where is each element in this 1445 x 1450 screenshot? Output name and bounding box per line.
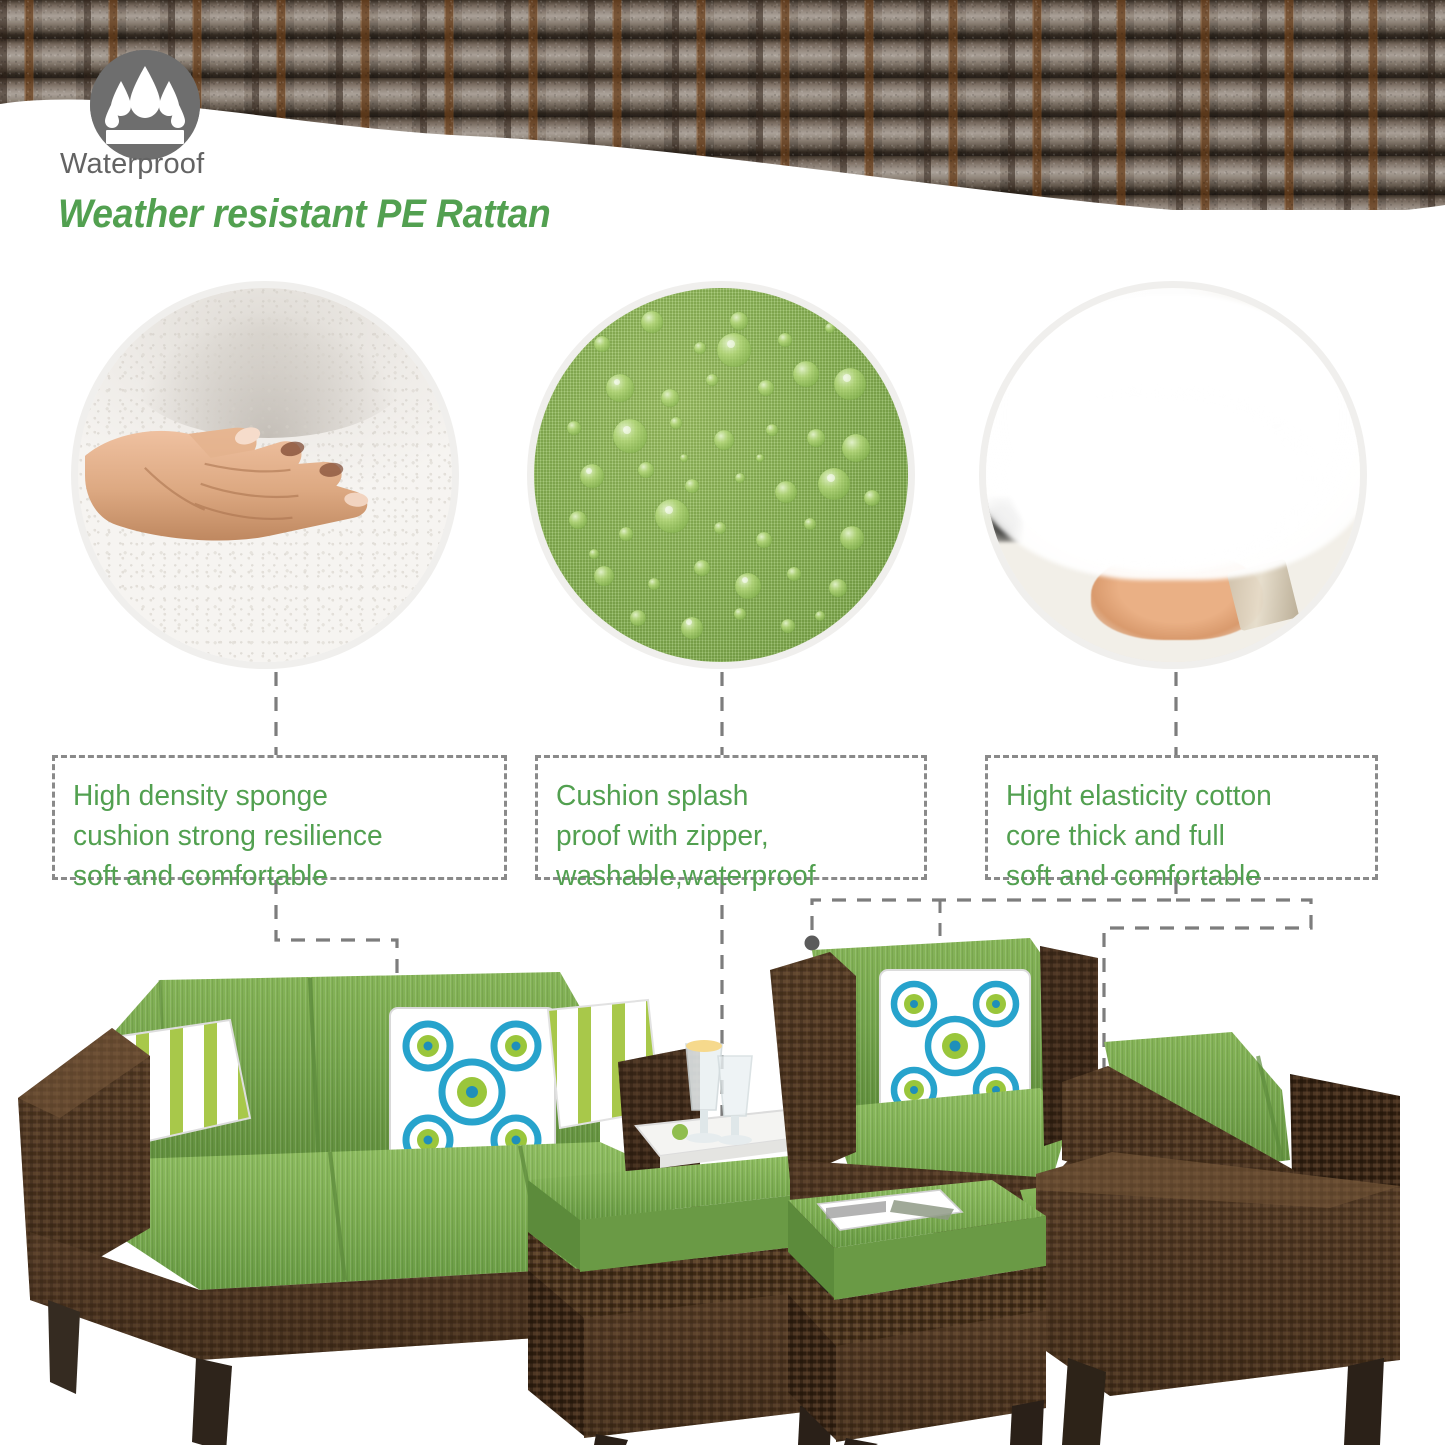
hand-pressing-foam	[85, 404, 444, 569]
armchair-front-right	[1020, 1032, 1400, 1445]
white-wave-divider	[0, 0, 1445, 215]
cotton-fill-background	[986, 288, 1360, 662]
callout-sponge-line-2: cushion strong resilience	[73, 816, 476, 856]
green-waterproof-fabric	[534, 288, 908, 662]
waterproof-droplets-icon	[90, 50, 200, 160]
cotton-fluff-secondary	[1008, 385, 1322, 572]
callout-splash-line-1: Cushion splash	[556, 776, 897, 816]
feature-image-sponge	[78, 288, 452, 662]
feature-image-cotton	[986, 288, 1360, 662]
sofa-leg-front-right	[192, 1358, 232, 1445]
sofa-leg-front-left	[48, 1300, 80, 1394]
ottoman-with-magazine	[788, 1166, 1048, 1445]
product-furniture-scene	[0, 860, 1445, 1445]
water-droplets-overlay	[534, 288, 908, 662]
callout-cotton-line-1: Hight elasticity cotton	[1006, 776, 1348, 816]
callout-sponge-line-1: High density sponge	[73, 776, 476, 816]
page-headline: Weather resistant PE Rattan	[58, 192, 551, 237]
waterproof-label: Waterproof	[60, 148, 204, 181]
callout-cotton-line-2: core thick and full	[1006, 816, 1348, 856]
callout-splash-line-2: proof with zipper,	[556, 816, 897, 856]
feature-image-splash	[534, 288, 908, 662]
